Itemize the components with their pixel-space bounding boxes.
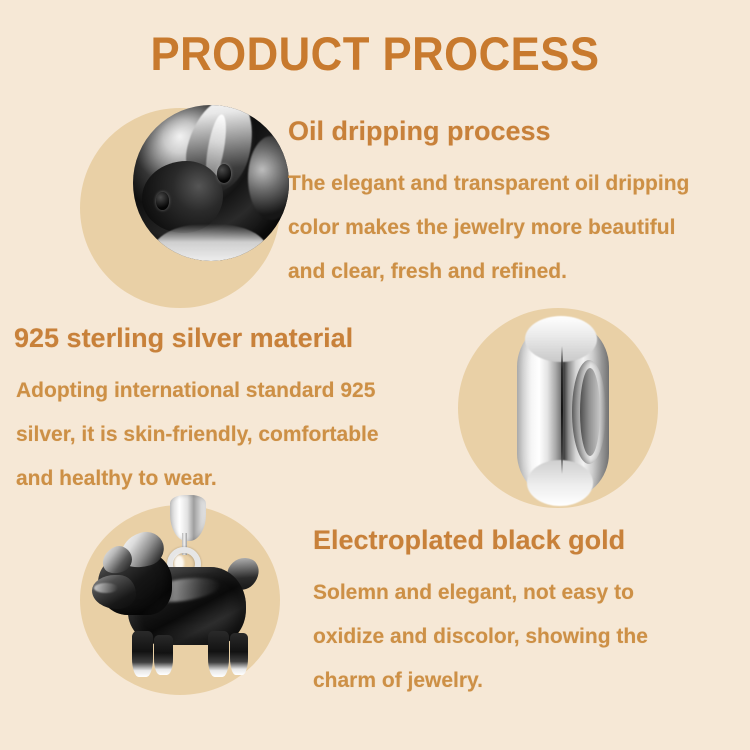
- section-1-body-line-1: The elegant and transparent oil dripping: [288, 162, 689, 206]
- section-1-body-line-2: color makes the jewelry more beautiful: [288, 206, 689, 250]
- sterling-silver-product-image: [517, 320, 609, 500]
- section-3-heading: Electroplated black gold: [313, 527, 625, 554]
- spacer-bead-bore-inner: [580, 368, 600, 456]
- spacer-bead-seam: [561, 346, 563, 474]
- section-3-body-line-2: oxidize and discolor, showing the: [313, 615, 648, 659]
- section-3-body-line-1: Solemn and elegant, not easy to: [313, 571, 648, 615]
- oil-dripping-product-image: [133, 105, 289, 261]
- product-process-infographic: PRODUCT PROCESS Oil dripping process The…: [0, 0, 750, 750]
- charm-clasp: [170, 495, 206, 541]
- section-2-body-line-1: Adopting international standard 925: [16, 369, 379, 413]
- dog-leg-back-left: [208, 631, 229, 677]
- enamel-lobe: [142, 161, 223, 233]
- section-2-heading: 925 sterling silver material: [14, 325, 353, 352]
- page-title: PRODUCT PROCESS: [26, 26, 724, 81]
- enamel-dot-lower: [156, 192, 168, 209]
- section-1-body-line-3: and clear, fresh and refined.: [288, 250, 689, 294]
- section-2-body-line-2: silver, it is skin-friendly, comfortable: [16, 413, 379, 457]
- dog-muzzle-highlight: [94, 583, 118, 593]
- dog-leg-front-right: [154, 635, 173, 675]
- section-1-body: The elegant and transparent oil dripping…: [288, 162, 689, 294]
- section-1-heading: Oil dripping process: [288, 118, 551, 145]
- dog-leg-front-left: [132, 631, 153, 677]
- dog-leg-back-right: [230, 633, 248, 675]
- section-3-body-line-3: charm of jewelry.: [313, 659, 648, 703]
- section-3-body: Solemn and elegant, not easy to oxidize …: [313, 571, 648, 703]
- enamel-right-shade: [248, 136, 289, 220]
- black-gold-dog-charm-image: [84, 495, 284, 710]
- spacer-bead-bottom-highlight: [527, 460, 593, 506]
- section-2-body: Adopting international standard 925 silv…: [16, 369, 379, 501]
